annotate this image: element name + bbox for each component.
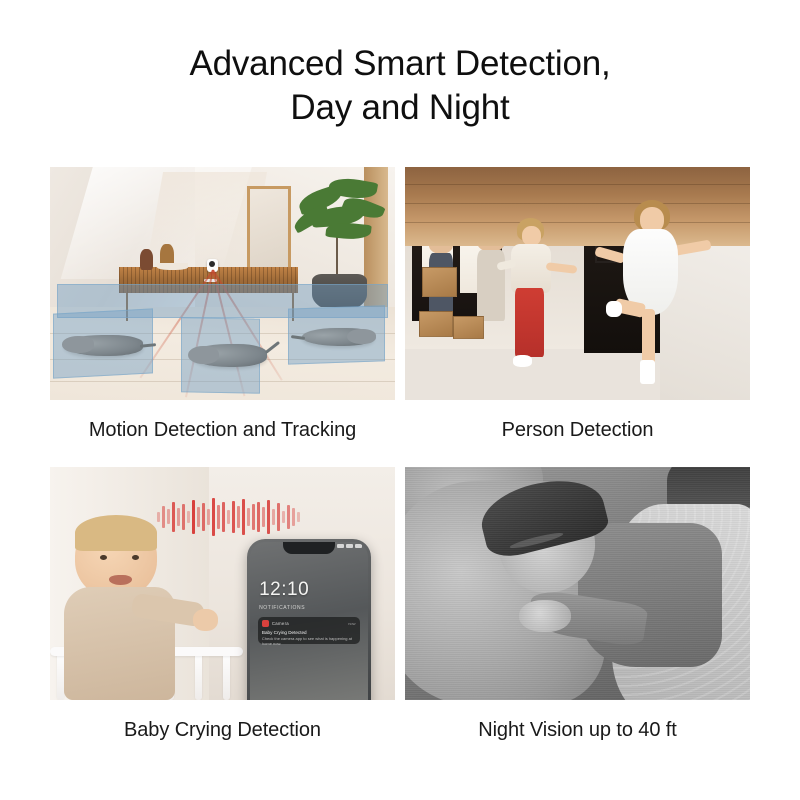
bowl — [157, 263, 188, 270]
cat-head — [347, 329, 376, 344]
waveform-bar — [282, 511, 285, 523]
girl-shoe — [606, 301, 621, 317]
girl-leg-standing — [642, 309, 654, 368]
feature-card-night-vision: Night Vision up to 40 ft — [405, 467, 750, 743]
girl-arm-left — [595, 246, 627, 264]
feature-card-baby-crying-detection: 12:10 NOTIFICATIONS Camera now Baby Cryi… — [50, 467, 395, 743]
waveform-bar — [227, 510, 230, 524]
notifications-header: NOTIFICATIONS — [259, 605, 305, 611]
hallway-scene — [405, 167, 750, 400]
waveform-bar — [232, 501, 235, 533]
girl-in-white-dress — [598, 200, 736, 396]
waveform-bar — [257, 502, 260, 532]
waveform-bar — [182, 504, 185, 530]
baby-crying-detection-image: 12:10 NOTIFICATIONS Camera now Baby Cryi… — [50, 467, 395, 700]
cat-head — [188, 346, 218, 364]
cardboard-box — [422, 267, 457, 297]
page-title: Advanced Smart Detection, Day and Night — [0, 42, 800, 130]
phone-screen: 12:10 NOTIFICATIONS Camera now Baby Cryi… — [250, 542, 368, 700]
sleeping-child-hand — [519, 600, 571, 633]
waveform-bar — [247, 508, 250, 526]
waveform-bar — [237, 506, 240, 528]
cardboard-box — [453, 316, 484, 339]
waveform-bar — [172, 502, 175, 532]
girl-sock — [640, 360, 655, 383]
waveform-bar — [272, 509, 275, 525]
vase — [140, 249, 154, 270]
feature-grid-page: Advanced Smart Detection, Day and Night — [0, 0, 800, 800]
feature-card-motion-detection: Motion Detection and Tracking — [50, 167, 395, 443]
waveform-bar — [207, 509, 210, 525]
feature-caption-person-detection: Person Detection — [405, 417, 750, 443]
notification-title: Baby Crying Detected — [262, 630, 356, 635]
waveform-bar — [177, 508, 180, 526]
waveform-bar — [252, 504, 255, 530]
living-room-scene — [50, 167, 395, 400]
baby-hand — [193, 609, 218, 631]
battery-icon — [355, 544, 362, 548]
notification-timestamp: now — [348, 621, 355, 626]
page-title-line-1: Advanced Smart Detection, — [0, 42, 800, 86]
feature-card-person-detection: Person Detection — [405, 167, 750, 443]
cardboard-box — [419, 311, 454, 337]
child-shoe — [513, 355, 532, 366]
waveform-bar — [297, 512, 300, 522]
cat — [191, 344, 267, 367]
floor-plank — [405, 184, 750, 185]
child-red-pants — [515, 288, 544, 356]
waveform-bar — [212, 498, 215, 536]
waveform-bar — [197, 507, 200, 527]
signal-icon — [337, 544, 344, 548]
nursery-scene: 12:10 NOTIFICATIONS Camera now Baby Cryi… — [50, 467, 395, 700]
notification-body: Check the camera app to see what is happ… — [262, 636, 356, 646]
baby — [60, 518, 239, 700]
camera-app-icon — [262, 620, 269, 627]
phone-status-bar — [337, 544, 362, 548]
feature-caption-motion-detection: Motion Detection and Tracking — [50, 417, 395, 443]
cat-head — [62, 336, 94, 352]
person-detection-image — [405, 167, 750, 400]
sleeping-child-body — [578, 523, 723, 667]
night-vision-image — [405, 467, 750, 700]
waveform-bar — [187, 511, 190, 523]
feature-caption-night-vision: Night Vision up to 40 ft — [405, 717, 750, 743]
wifi-icon — [346, 544, 353, 548]
waveform-bar — [277, 503, 280, 531]
waveform-bar — [167, 509, 170, 524]
waveform-bar — [192, 500, 195, 534]
notification-app-name: Camera — [272, 621, 289, 626]
features-grid: Motion Detection and Tracking — [50, 167, 750, 742]
notification-header-row: Camera now — [262, 620, 356, 627]
phone-notch — [283, 542, 335, 554]
child-arm-right — [546, 262, 578, 274]
cat — [302, 328, 374, 347]
child-face — [522, 226, 542, 246]
baby-eye — [100, 555, 107, 560]
night-vision-scene — [405, 467, 750, 700]
phone-clock: 12:10 — [259, 579, 309, 601]
smartphone: 12:10 NOTIFICATIONS Camera now Baby Cryi… — [247, 539, 371, 700]
waveform-bar — [217, 505, 220, 529]
child-in-red-pants — [495, 218, 599, 381]
waveform-bar — [202, 503, 205, 531]
waveform-bar — [157, 512, 160, 522]
motion-detection-image — [50, 167, 395, 400]
baby-eye — [132, 555, 139, 560]
waveform-bar — [262, 507, 265, 527]
waveform-bar — [222, 502, 225, 532]
sound-waveform-icon — [157, 493, 300, 541]
child-sweater — [511, 244, 550, 293]
waveform-bar — [287, 505, 290, 529]
notification-card[interactable]: Camera now Baby Crying Detected Check th… — [258, 617, 360, 644]
waveform-bar — [267, 500, 270, 534]
waveform-bar — [162, 506, 165, 528]
waveform-bar — [292, 508, 295, 526]
baby-hair — [75, 515, 158, 551]
waveform-bar — [242, 499, 245, 535]
page-title-line-2: Day and Night — [0, 86, 800, 130]
feature-caption-baby-crying-detection: Baby Crying Detection — [50, 717, 395, 743]
cat — [64, 335, 143, 356]
